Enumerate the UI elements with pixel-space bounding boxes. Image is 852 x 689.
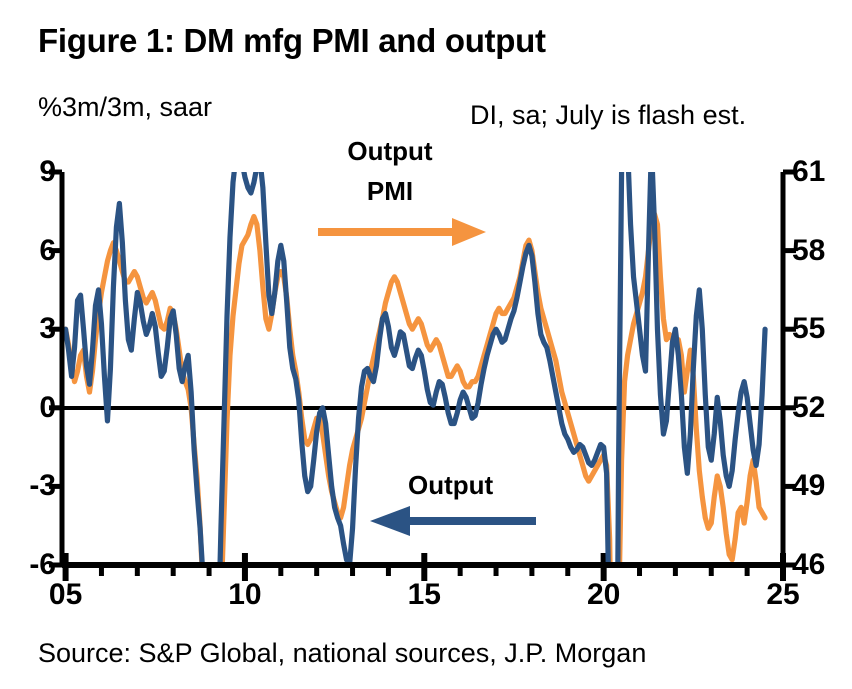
annotation-output: Output [408,470,493,501]
y-axis-left-tick-5: -6 [12,550,56,580]
y-axis-right-tick-1: 58 [792,236,840,266]
right-axis-unit-label: DI, sa; July is flash est. [470,100,746,131]
y-axis-right-tick-4: 49 [792,471,840,501]
annotation-arrow-left-blue [370,506,536,536]
x-axis-tick-3: 20 [587,580,620,610]
y-axis-right-tick-5: 46 [792,550,840,580]
figure-chart-container: Figure 1: DM mfg PMI and output %3m/3m, … [0,0,852,689]
left-axis-unit-label: %3m/3m, saar [38,92,212,123]
annotation-output-pmi-line1: Output [330,131,450,171]
y-axis-left-tick-0: 9 [12,157,56,187]
annotation-output-pmi-line2: PMI [330,171,450,211]
y-axis-left-tick-4: -3 [12,471,56,501]
x-axis-tick-4: 25 [766,580,799,610]
y-axis-right-tick-3: 52 [792,393,840,423]
y-axis-right-tick-0: 61 [792,157,840,187]
x-axis-tick-2: 15 [408,580,441,610]
y-axis-left-tick-1: 6 [12,236,56,266]
x-axis-ticklabels: 0510152025 [0,580,852,620]
y-axis-left-tick-2: 3 [12,314,56,344]
y-axis-right-tick-2: 55 [792,314,840,344]
annotation-output-pmi: Output PMI [330,131,450,211]
annotation-arrow-right-orange [318,218,486,246]
x-axis-tick-1: 10 [228,580,261,610]
y-axis-left-tick-3: 0 [12,393,56,423]
page-title: Figure 1: DM mfg PMI and output [38,22,546,60]
x-axis-tick-0: 05 [49,580,82,610]
source-note: Source: S&P Global, national sources, J.… [38,638,646,669]
